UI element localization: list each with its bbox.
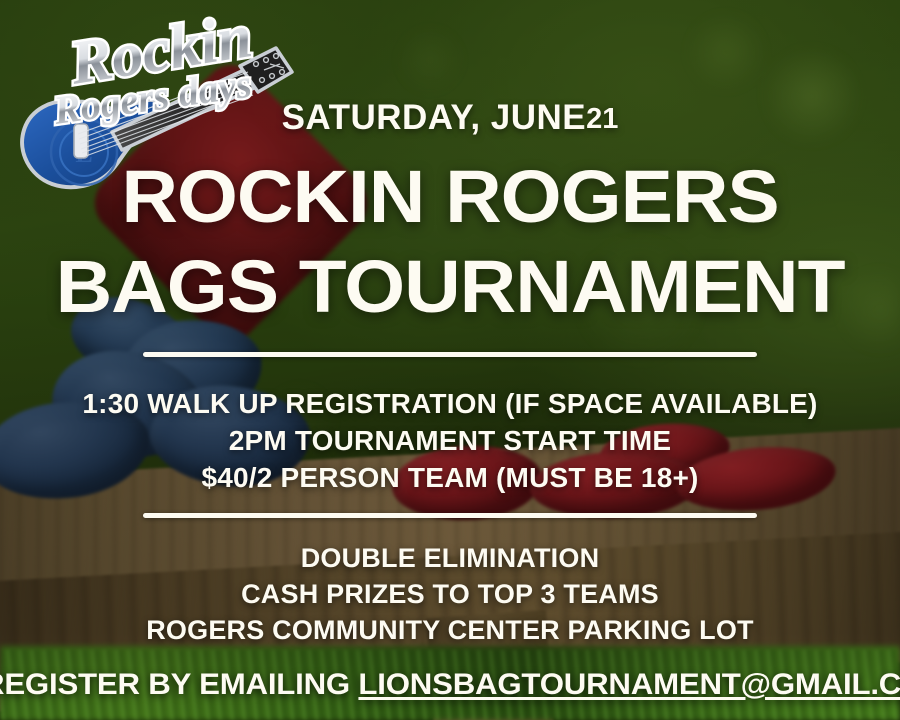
event-date: SATURDAY, JUNE21 <box>0 98 900 138</box>
detail-line: CASH PRIZES TO TOP 3 TEAMS <box>0 576 900 612</box>
detail-line: DOUBLE ELIMINATION <box>0 540 900 576</box>
details-primary: 1:30 WALK UP REGISTRATION (IF SPACE AVAI… <box>0 385 900 496</box>
detail-line: $40/2 PERSON TEAM (MUST BE 18+) <box>0 459 900 496</box>
detail-line: ROGERS COMMUNITY CENTER PARKING LOT <box>0 612 900 648</box>
divider-top <box>143 352 757 357</box>
divider-bottom <box>143 513 757 518</box>
page-title-line-1: ROCKIN ROGERS <box>0 160 900 234</box>
page-title-line-2: BAGS TOURNAMENT <box>0 250 900 324</box>
registration-footer: REGISTER BY EMAILING LIONSBAGTOURNAMENT@… <box>0 668 900 702</box>
detail-line: 1:30 WALK UP REGISTRATION (IF SPACE AVAI… <box>0 385 900 422</box>
registration-prefix: REGISTER BY EMAILING <box>0 668 358 701</box>
event-date-text: SATURDAY, JUNE <box>282 98 587 137</box>
details-secondary: DOUBLE ELIMINATION CASH PRIZES TO TOP 3 … <box>0 540 900 648</box>
registration-email-link[interactable]: LIONSBAGTOURNAMENT@GMAIL.COM <box>358 668 900 701</box>
flyer-poster: L Rockin <box>0 0 900 720</box>
detail-line: 2PM TOURNAMENT START TIME <box>0 422 900 459</box>
event-date-day: 21 <box>586 103 618 135</box>
flyer-text-content: SATURDAY, JUNE21 ROCKIN ROGERS BAGS TOUR… <box>0 0 900 720</box>
